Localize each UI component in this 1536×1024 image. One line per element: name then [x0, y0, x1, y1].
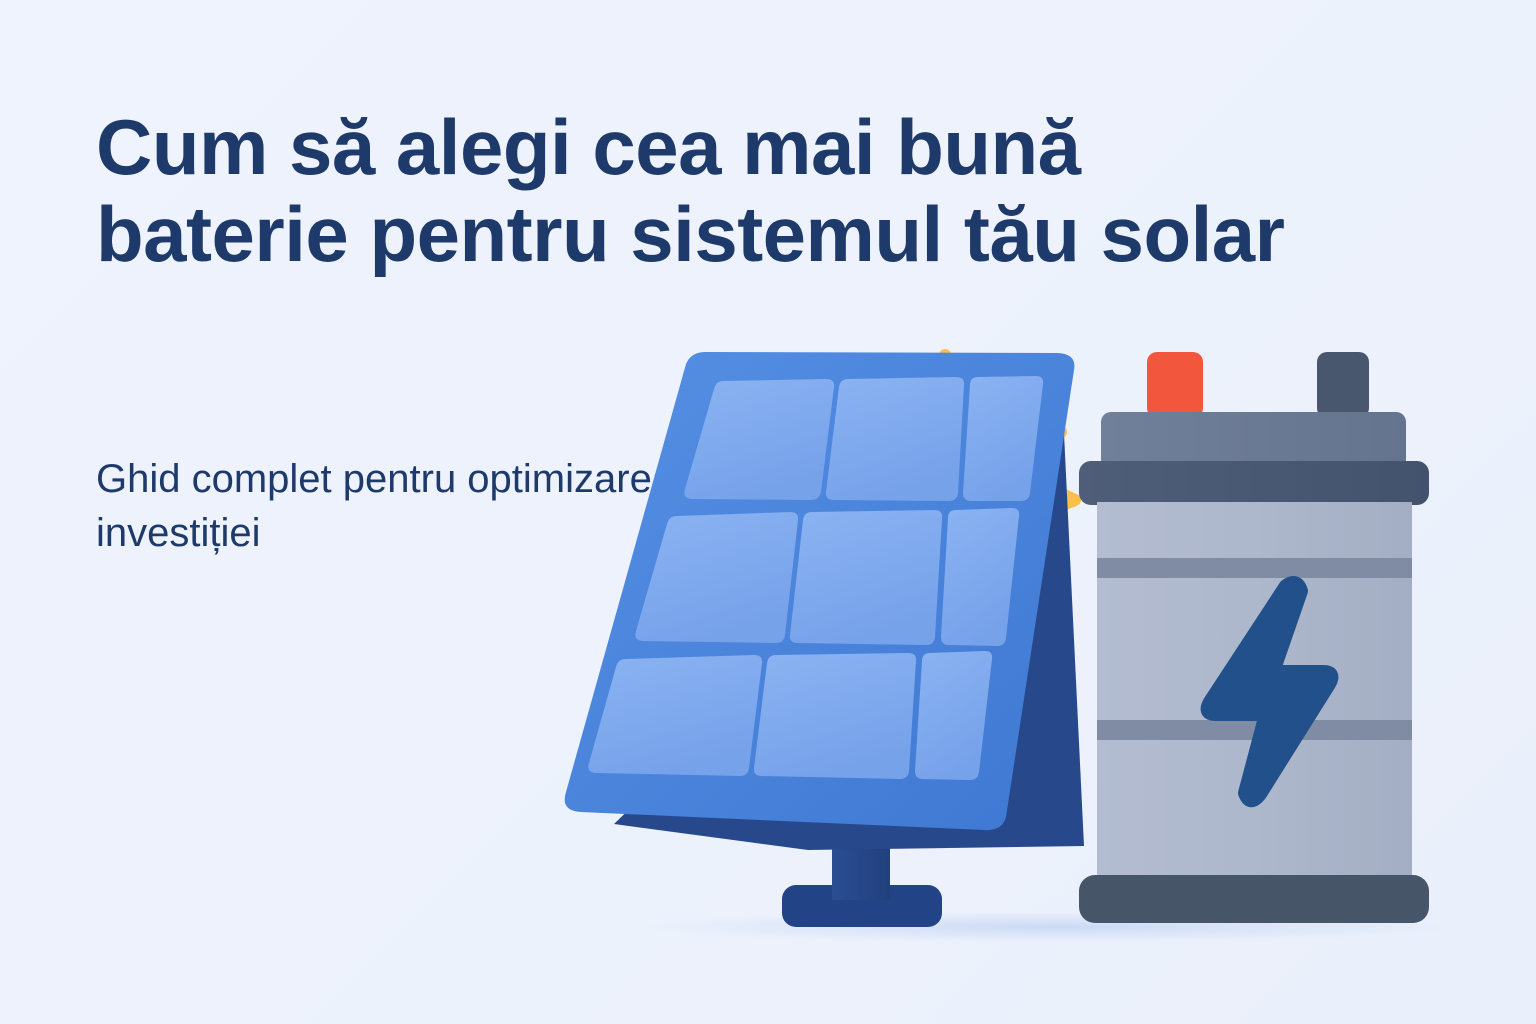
battery-illustration	[1079, 352, 1429, 923]
panel-cell	[963, 376, 1043, 501]
hero-illustration	[560, 330, 1520, 990]
panel-cell	[826, 377, 964, 501]
battery-top-rim	[1079, 461, 1429, 505]
hero-text-block: Cum să alegi cea mai bună baterie pentru…	[96, 104, 1326, 279]
battery-band-upper	[1097, 558, 1412, 578]
battery-negative-terminal	[1317, 352, 1369, 418]
panel-cell	[790, 510, 942, 645]
panel-cell	[588, 655, 762, 776]
battery-positive-terminal	[1147, 352, 1203, 418]
page-title: Cum să alegi cea mai bună baterie pentru…	[96, 104, 1326, 279]
hero-banner: Cum să alegi cea mai bună baterie pentru…	[0, 0, 1536, 1024]
panel-cell	[754, 653, 916, 779]
battery-base	[1079, 875, 1429, 923]
solar-panel-illustration	[565, 352, 1084, 927]
panel-cell-grid	[588, 376, 1043, 780]
